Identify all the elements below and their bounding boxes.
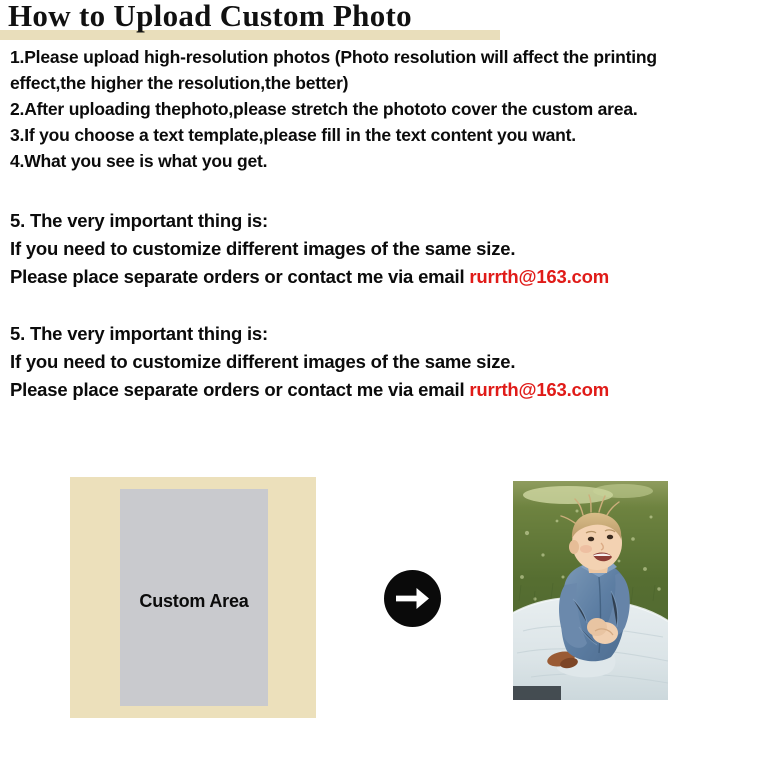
custom-area-placeholder[interactable]: Custom Area [120,489,268,706]
important-heading: 5. The very important thing is: [10,320,766,348]
email-link[interactable]: rurrth@163.com [469,266,609,287]
important-heading: 5. The very important thing is: [10,207,766,235]
page-header: How to Upload Custom Photo [0,0,768,44]
contact-prefix: Please place separate orders or contact … [10,379,469,400]
email-link[interactable]: rurrth@163.com [469,379,609,400]
page-title: How to Upload Custom Photo [8,0,412,34]
important-notice-block: 5. The very important thing is: If you n… [10,320,766,404]
custom-area-frame: Custom Area [70,477,316,718]
instruction-line: 3.If you choose a text template,please f… [10,122,760,148]
instruction-line: 2.After uploading thephoto,please stretc… [10,96,760,122]
important-contact: Please place separate orders or contact … [10,263,766,291]
arrow-right-circle-icon [384,570,441,627]
custom-area-label: Custom Area [120,591,268,612]
instruction-line: 4.What you see is what you get. [10,148,760,174]
important-body: If you need to customize different image… [10,348,766,376]
important-body: If you need to customize different image… [10,235,766,263]
sample-photo [513,481,668,700]
contact-prefix: Please place separate orders or contact … [10,266,469,287]
instruction-line: effect,the higher the resolution,the bet… [10,70,760,96]
important-contact: Please place separate orders or contact … [10,376,766,404]
instruction-list: 1.Please upload high-resolution photos (… [10,44,760,174]
instruction-line: 1.Please upload high-resolution photos (… [10,44,760,70]
important-notice-block: 5. The very important thing is: If you n… [10,207,766,291]
